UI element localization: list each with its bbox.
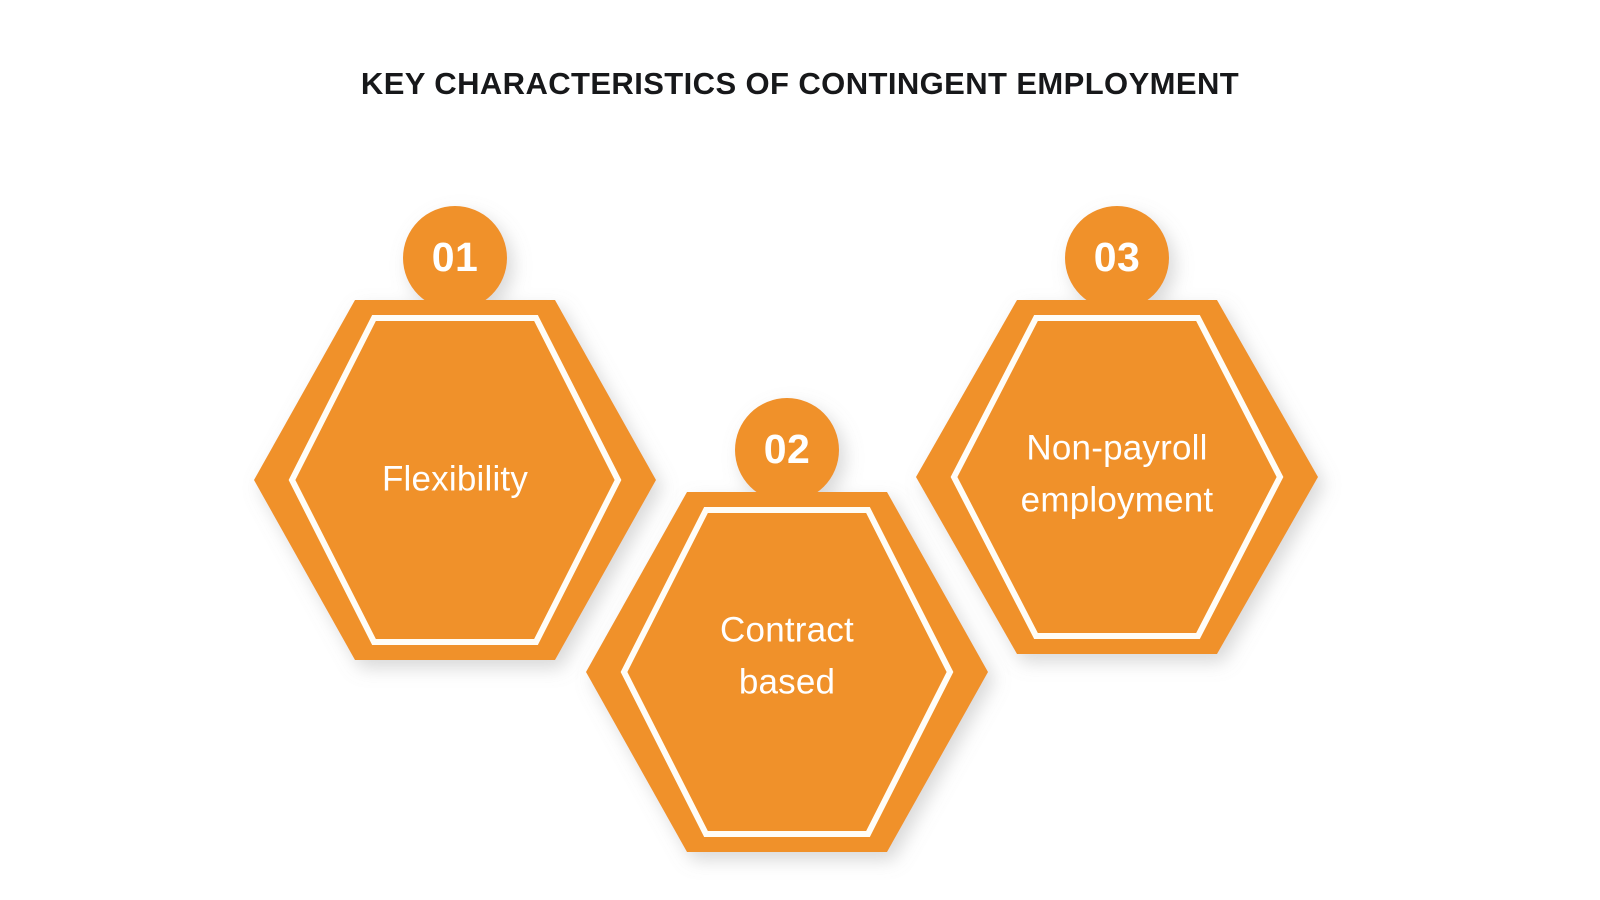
infographic-canvas: KEY CHARACTERISTICS OF CONTINGENT EMPLOY… [0, 0, 1600, 900]
hexagon-diagram: 01 Flexibility 02 Contract based 03 [0, 0, 1600, 900]
hex-label-02-line2: based [739, 662, 835, 701]
hexagon-outer-03 [916, 300, 1318, 654]
hex-label-03-line1: Non-payroll [1026, 428, 1207, 467]
hex-card-01[interactable]: 01 Flexibility [254, 206, 656, 660]
badge-number-03: 03 [1094, 234, 1141, 280]
badge-number-02: 02 [764, 426, 811, 472]
hex-label-03-line2: employment [1021, 480, 1214, 519]
hex-card-03[interactable]: 03 Non-payroll employment [916, 206, 1318, 654]
hex-label-01-line1: Flexibility [382, 459, 528, 498]
hex-label-02-line1: Contract [720, 610, 854, 649]
badge-number-01: 01 [432, 234, 479, 280]
